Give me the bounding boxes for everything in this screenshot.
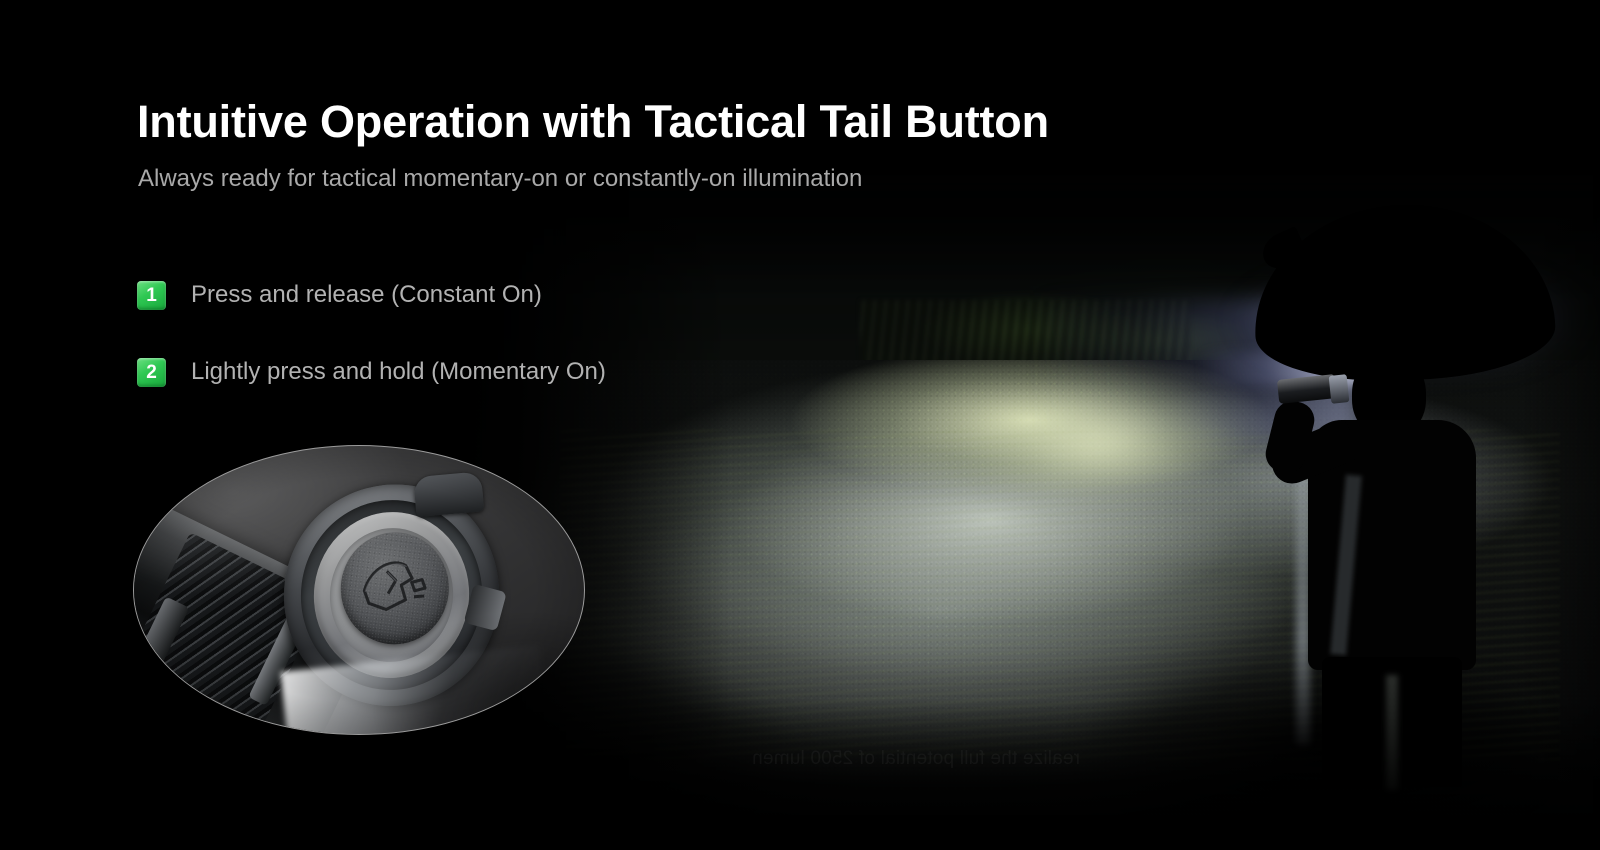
step-list: 1 Press and release (Constant On) 2 Ligh… <box>137 272 606 426</box>
step-badge-1: 1 <box>137 281 166 310</box>
page-subtitle: Always ready for tactical momentary-on o… <box>138 165 862 193</box>
flashlight-head <box>1329 374 1350 404</box>
page-title: Intuitive Operation with Tactical Tail B… <box>137 96 1049 148</box>
inset-vignette <box>134 446 584 734</box>
step-label-1: Press and release (Constant On) <box>191 281 542 309</box>
step-badge-2: 2 <box>137 358 166 387</box>
list-item: 1 Press and release (Constant On) <box>137 272 606 318</box>
tail-button-closeup-inset <box>133 445 585 735</box>
step-label-2: Lightly press and hold (Momentary On) <box>191 358 606 386</box>
list-item: 2 Lightly press and hold (Momentary On) <box>137 349 606 395</box>
slide-root: realize the full potential of 2500 lumen… <box>0 0 1600 850</box>
leg-gap-highlight <box>1386 675 1398 790</box>
photo-fade-right <box>1520 0 1600 850</box>
